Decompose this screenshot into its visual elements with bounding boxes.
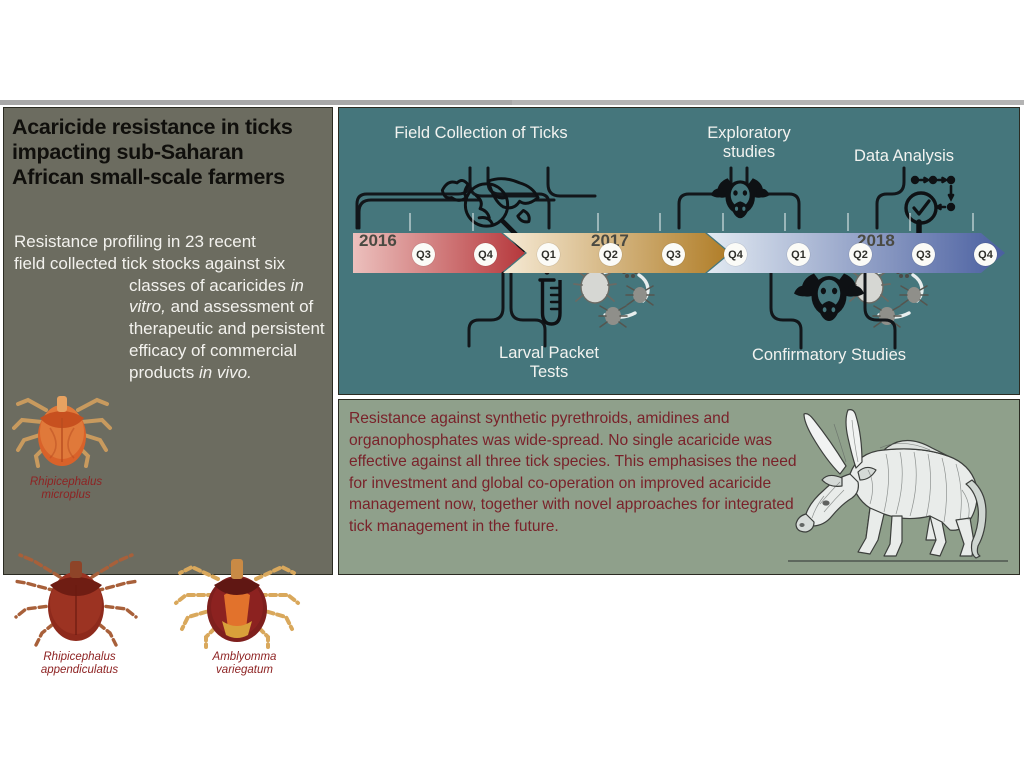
timeline-quarter-2018-q3[interactable]: Q3	[912, 243, 935, 266]
title-line-2: impacting sub-Saharan	[12, 140, 328, 165]
timeline-bar: 2016 2017 2018 Q3 Q4 Q1 Q2 Q3 Q4 Q1 Q2 Q…	[353, 233, 1005, 273]
timeline-label-field-collection: Field Collection of Ticks	[391, 124, 571, 143]
timeline-year-2016: 2016	[359, 231, 397, 251]
title-line-3: African small-scale farmers	[12, 165, 328, 190]
timeline-tickmark	[972, 213, 974, 231]
tick-figure-appendiculatus: Rhipicephalus appendiculatus	[12, 551, 147, 677]
top-strip	[0, 100, 1024, 105]
timeline-tickmark	[847, 213, 849, 231]
conclusion-panel: Resistance against synthetic pyrethroids…	[338, 399, 1020, 575]
timeline-quarter-2018-q1[interactable]: Q1	[787, 243, 810, 266]
tick-appendiculatus-icon	[12, 551, 140, 649]
tick-lifecycle-icon-left	[574, 264, 654, 327]
tick-genus-microplus: Rhipicephalus	[30, 476, 102, 488]
tick-lifecycle-icon-right	[848, 264, 928, 327]
cow-head-icon-exploratory	[711, 178, 770, 218]
tick-caption-microplus: Rhipicephalus microplus	[12, 476, 120, 502]
zebu-bull-illustration	[780, 404, 1015, 568]
intro-line-1: Resistance profiling in 23 recent	[14, 231, 329, 253]
intro-text-a: classes of acaricides	[129, 276, 291, 295]
timeline-quarter-2017-q4[interactable]: Q4	[724, 243, 747, 266]
intro-wrapped-block: classes of acaricides in vitro, and asse…	[129, 275, 329, 384]
tick-figure-microplus: Rhipicephalus microplus	[12, 388, 120, 502]
timeline-tickmark	[409, 213, 411, 231]
tick-caption-appendiculatus: Rhipicephalus appendiculatus	[12, 651, 147, 677]
timeline-label-exploratory: Exploratory studies	[679, 124, 819, 163]
magnifier-check-flow-icon	[906, 176, 955, 233]
cow-head-icon-confirmatory	[794, 274, 864, 322]
tick-caption-variegatum: Amblyomma variegatum	[172, 651, 317, 677]
timeline-quarter-2017-q1[interactable]: Q1	[537, 243, 560, 266]
tick-species-appendiculatus: appendiculatus	[41, 664, 118, 676]
tick-genus-variegatum: Amblyomma	[213, 651, 277, 663]
conclusion-text: Resistance against synthetic pyrethroids…	[349, 408, 809, 537]
timeline-tickmark	[722, 213, 724, 231]
timeline-quarter-2018-q2[interactable]: Q2	[849, 243, 872, 266]
tick-microplus-icon	[12, 388, 114, 474]
top-strip-right-segment	[512, 100, 1024, 105]
intro-italic-in-vivo: in vivo.	[199, 363, 252, 382]
timeline-tickmark	[472, 213, 474, 231]
timeline-tickmark	[784, 213, 786, 231]
timeline-tickmark	[659, 213, 661, 231]
timeline-label-data-analysis: Data Analysis	[829, 147, 979, 166]
tick-figure-variegatum: Amblyomma variegatum	[172, 551, 317, 677]
timeline-panel: Field Collection of Ticks Exploratory st…	[338, 107, 1020, 395]
timeline-tickmark	[597, 213, 599, 231]
timeline-quarter-2017-q2[interactable]: Q2	[599, 243, 622, 266]
left-panel: Acaricide resistance in ticks impacting …	[3, 107, 333, 575]
timeline-quarter-2016-q4[interactable]: Q4	[474, 243, 497, 266]
timeline-quarter-2016-q3[interactable]: Q3	[412, 243, 435, 266]
page-title: Acaricide resistance in ticks impacting …	[12, 115, 328, 190]
timeline-quarter-2018-q4[interactable]: Q4	[974, 243, 997, 266]
intro-paragraph: Resistance profiling in 23 recent field …	[14, 231, 329, 383]
title-line-1: Acaricide resistance in ticks	[12, 115, 328, 140]
timeline-tickmark	[909, 213, 911, 231]
graphical-abstract-figure: Acaricide resistance in ticks impacting …	[0, 0, 1024, 768]
intro-line-2: field collected tick stocks against six	[14, 253, 329, 275]
zebu-bull-icon	[780, 404, 1015, 568]
timeline-quarter-2017-q3[interactable]: Q3	[662, 243, 685, 266]
tick-genus-appendiculatus: Rhipicephalus	[43, 651, 115, 663]
timeline-label-larval-packet-tests: Larval Packet Tests	[479, 344, 619, 383]
tick-variegatum-icon	[172, 551, 302, 649]
timeline-label-confirmatory-studies: Confirmatory Studies	[729, 346, 929, 365]
tick-species-microplus: microplus	[41, 489, 90, 501]
tick-species-variegatum: variegatum	[216, 664, 273, 676]
